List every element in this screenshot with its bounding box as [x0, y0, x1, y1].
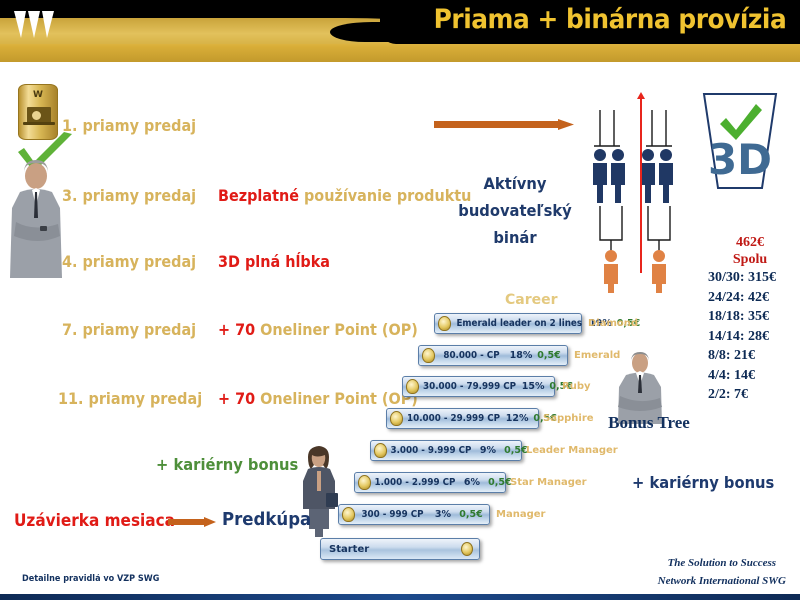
career-tier-sapphire: Sapphire — [543, 413, 594, 424]
career-bonus-left-label: + kariérny bonus — [156, 455, 298, 474]
medal-icon — [390, 411, 403, 426]
middle-row-4: + 70 Oneliner Point (OP) — [218, 389, 418, 408]
payout-pair-row: 8/8: 21€ — [700, 346, 800, 366]
middle-row-2-red: 3D plná hĺbka — [218, 252, 330, 271]
binary-title-line-1: Aktívny — [446, 170, 584, 197]
detail-rules-note: Detailne pravidlá vo VZP SWG — [22, 574, 159, 584]
rung-percent: 3% — [430, 509, 456, 520]
career-tier-manager: Manager — [496, 509, 545, 520]
binary-title-line-3: binár — [446, 224, 584, 251]
rung-name: 30.000 - 79.999 CP — [423, 381, 516, 392]
presale-label: Predkúpa — [222, 509, 311, 530]
medal-icon — [358, 475, 371, 490]
rung-name: 10.000 - 29.999 CP — [407, 413, 500, 424]
career-rung-ruby[interactable]: 30.000 - 79.999 CP 15% 0,5€ — [402, 376, 555, 397]
medal-icon — [374, 443, 387, 458]
medal-icon — [461, 542, 473, 556]
middle-row-3: + 70 Oneliner Point (OP) — [218, 320, 418, 339]
businessman-left-photo — [6, 160, 68, 278]
payout-pair-row: 2/2: 7€ — [700, 385, 800, 405]
left-item-5: 11. priamy predaj — [58, 389, 202, 408]
middle-row-2: 3D plná hĺbka — [218, 252, 330, 271]
career-rung-sapphire[interactable]: 10.000 - 29.999 CP 12% 0,5€ — [386, 408, 539, 429]
orange-arrow-small-icon — [168, 517, 216, 527]
binary-tree-diagram — [592, 98, 692, 293]
payout-pair-row: 4/4: 14€ — [700, 366, 800, 386]
orange-arrow-icon — [434, 119, 574, 130]
globe-icon — [31, 110, 42, 121]
3d-funnel-logo: 3D — [700, 92, 780, 190]
career-tier-ruby: Ruby — [562, 381, 591, 392]
career-bonus-right-label: + kariérny bonus — [632, 473, 774, 492]
medal-icon — [438, 316, 451, 331]
payout-total: 462€ — [700, 234, 800, 251]
binary-center-line — [640, 98, 642, 273]
payout-pair-row: 14/14: 28€ — [700, 327, 800, 347]
rung-name: 1.000 - 2.999 CP — [375, 477, 456, 488]
signature-block: The Solution to Success Network Internat… — [658, 554, 786, 590]
middle-row-4-gold: Oneliner Point (OP) — [260, 389, 418, 408]
binary-title-line-2: budovateľský — [446, 197, 584, 224]
header-bar: Priama + binárna provízia — [0, 0, 800, 62]
payout-pair-row: 30/30: 315€ — [700, 268, 800, 288]
career-tier-leader-manager: Leader Manager — [526, 445, 618, 456]
rung-eur: 0,5€ — [456, 509, 486, 520]
footer-bar — [0, 594, 800, 600]
rung-percent: 6% — [459, 477, 485, 488]
bonus-tree-label: Bonus Tree — [594, 413, 704, 433]
career-label: Career — [505, 292, 558, 308]
rung-name: 300 - 999 CP — [358, 509, 427, 520]
payout-pair-row: 18/18: 35€ — [700, 307, 800, 327]
w-logo-icon — [12, 8, 64, 42]
middle-row-3-gold: Oneliner Point (OP) — [260, 320, 418, 339]
left-item-2: 3. priamy predaj — [62, 186, 196, 205]
svg-text:3D: 3D — [708, 135, 772, 184]
rung-percent: 9% — [475, 445, 501, 456]
rung-name: Emerald leader on 2 lines — [456, 318, 582, 329]
month-closing-label: Uzávierka mesiaca — [14, 511, 175, 531]
career-rung-manager[interactable]: 300 - 999 CP 3% 0,5€ — [338, 504, 490, 525]
left-item-1: 1. priamy predaj — [62, 116, 196, 135]
career-rung-leader-manager[interactable]: 3.000 - 9.999 CP 9% 0,5€ — [370, 440, 522, 461]
career-rung-starter[interactable]: Starter — [320, 538, 480, 560]
signature-line-1: The Solution to Success — [658, 554, 786, 572]
rung-eur: 0,5€ — [534, 350, 564, 361]
payout-pair-row: 24/24: 42€ — [700, 288, 800, 308]
career-rung-emerald[interactable]: 80.000 - CP 18% 0,5€ — [418, 345, 568, 366]
signature-line-2: Network International SWG — [658, 572, 786, 590]
rung-name: 3.000 - 9.999 CP — [391, 445, 472, 456]
binary-payout-summary: 462€ Spolu 30/30: 315€ 24/24: 42€ 18/18:… — [700, 234, 800, 405]
page-title: Priama + binárna provízia — [433, 4, 786, 35]
career-rung-star-manager[interactable]: 1.000 - 2.999 CP 6% 0,5€ — [354, 472, 506, 493]
starter-label: Starter — [329, 544, 369, 555]
rung-percent: 18% — [508, 350, 534, 361]
payout-total-word: Spolu — [700, 251, 800, 268]
left-item-3: 4. priamy predaj — [62, 252, 196, 271]
career-tier-star-manager: Star Manager — [510, 477, 587, 488]
rung-percent: 15% — [520, 381, 546, 392]
medal-icon — [342, 507, 355, 522]
middle-row-4-red: + 70 — [218, 389, 260, 408]
medal-icon — [422, 348, 435, 363]
middle-row-1: Bezplatné používanie produktu — [218, 186, 471, 205]
career-rung-diamond[interactable]: Emerald leader on 2 lines 19% 0,5€ — [434, 313, 582, 334]
left-item-4: 7. priamy predaj — [62, 320, 196, 339]
active-binary-title: Aktívny budovateľský binár — [446, 170, 584, 251]
middle-row-3-red: + 70 — [218, 320, 260, 339]
rung-name: 80.000 - CP — [438, 350, 505, 361]
career-tier-diamond: Diamond — [588, 318, 638, 329]
medal-icon — [406, 379, 419, 394]
middle-row-1-red: Bezplatné — [218, 186, 299, 205]
rung-percent: 12% — [504, 413, 530, 424]
badge-letter: W — [19, 90, 57, 100]
